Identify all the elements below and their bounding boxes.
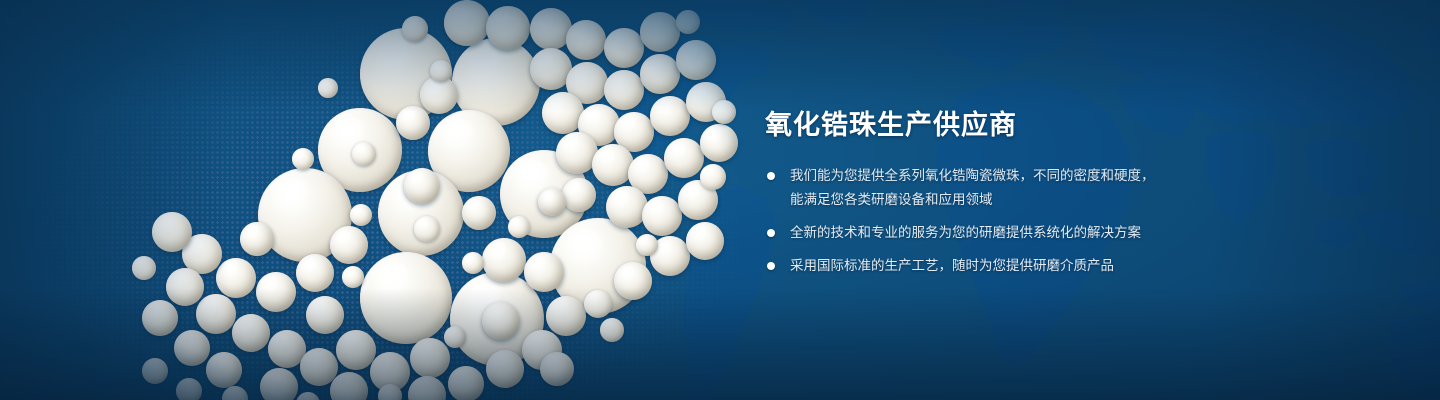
hero-banner: 氧化锆珠生产供应商 我们能为您提供全系列氧化锆陶瓷微珠，不同的密度和硬度， 能满… bbox=[0, 0, 1440, 400]
edge-vignette bbox=[0, 0, 1440, 400]
